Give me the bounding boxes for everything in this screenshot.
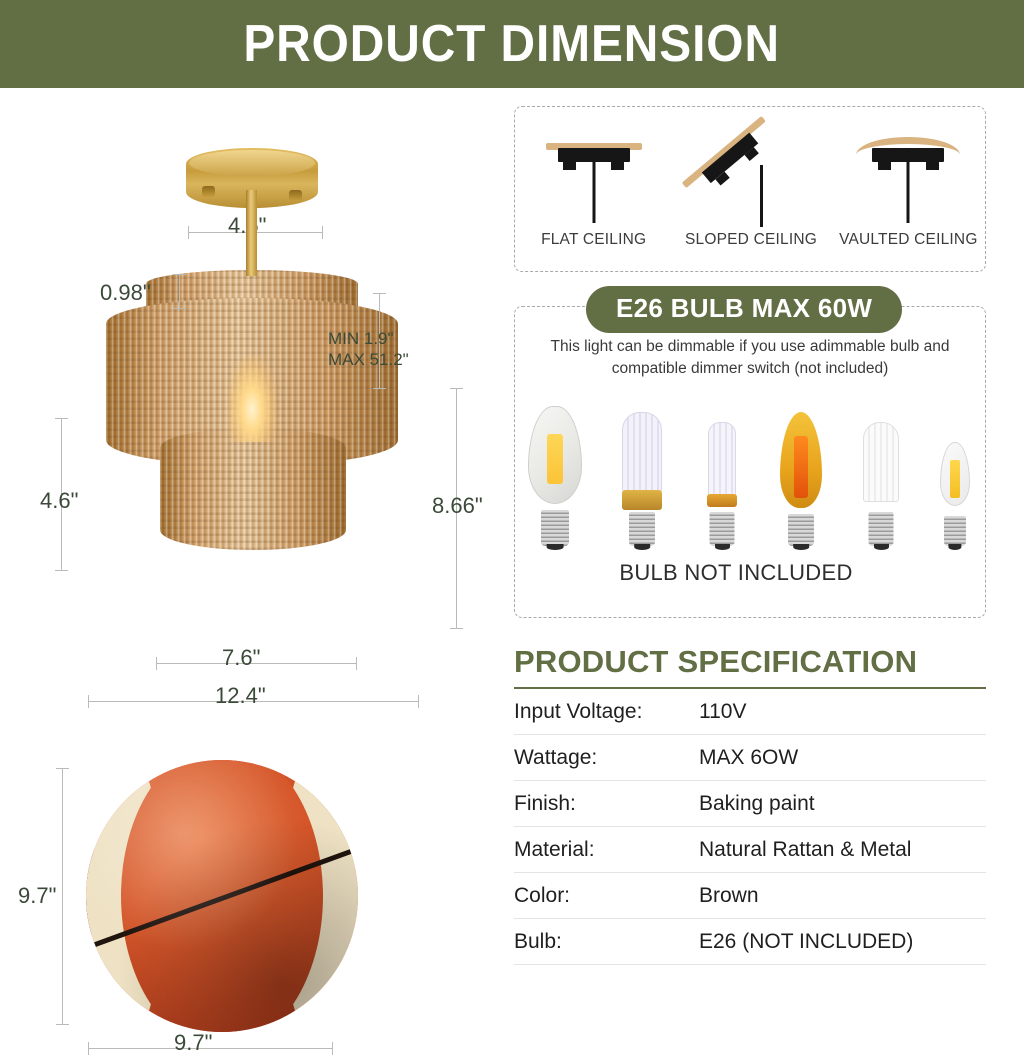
corn-led-e26-base (629, 512, 655, 546)
spec-key-input-voltage: Input Voltage: (514, 700, 699, 724)
bulb-types-row (524, 396, 976, 546)
page-title: PRODUCT DIMENSION (244, 14, 781, 74)
flat-ceiling-foot-right (611, 162, 624, 170)
dimcap-ball-height-top (56, 768, 69, 769)
vaulted-ceiling-rod (907, 161, 910, 223)
dimcap-overall-top (450, 388, 463, 389)
dimcap-lower-right (356, 657, 357, 670)
dimline-ball-height (62, 768, 63, 1024)
table-row: Material: Natural Rattan & Metal (514, 827, 986, 873)
white-cylinder-led-bulb (856, 422, 906, 546)
ceiling-types-panel: FLAT CEILING SLOPED CEILING (514, 106, 986, 272)
bulb-dimmable-note: This light can be dimmable if you use ad… (528, 336, 972, 381)
vaulted-ceiling-canopy (872, 148, 944, 162)
product-specification-section: PRODUCT SPECIFICATION Input Voltage: 110… (514, 644, 986, 965)
sloped-ceiling-plate-group (673, 105, 817, 248)
dimcap-rod-bottom (373, 388, 386, 389)
canopy-screw-right (289, 190, 302, 201)
flat-ceiling-canopy (558, 148, 630, 162)
dimcap-canopy-height-bottom (173, 308, 186, 309)
slim-corn-gold-ring (707, 494, 737, 507)
dimcap-ball-width-right (332, 1042, 333, 1055)
right-info-column: FLAT CEILING SLOPED CEILING (500, 88, 1024, 979)
ceiling-type-sloped: SLOPED CEILING (672, 129, 829, 249)
dimcap-shade-height-bottom (55, 570, 68, 571)
ceiling-type-flat: FLAT CEILING (515, 129, 672, 249)
corn-led-gold-collar (622, 490, 662, 510)
product-dimension-illustration: 4.6" 0.98" MIN 1.9" MAX 51.2" 4.6" 8.66"… (0, 88, 500, 979)
st64-e26-base (541, 510, 569, 546)
corn-led-body (622, 412, 662, 492)
bulb-not-included-label: BULB NOT INCLUDED (500, 560, 972, 586)
dimcap-overall-bottom (450, 628, 463, 629)
ceiling-type-vaulted: VAULTED CEILING (830, 129, 987, 249)
ceiling-type-vaulted-label: VAULTED CEILING (830, 231, 987, 249)
dimcap-canopy-width-left (188, 226, 189, 239)
table-row: Input Voltage: 110V (514, 689, 986, 735)
content-stage: 4.6" 0.98" MIN 1.9" MAX 51.2" 4.6" 8.66"… (0, 88, 1024, 979)
table-row: Color: Brown (514, 873, 986, 919)
candelabra-e26-base (944, 516, 966, 546)
spec-value-material: Natural Rattan & Metal (699, 838, 986, 862)
page-header: PRODUCT DIMENSION (0, 0, 1024, 88)
amber-flame-bulb (774, 412, 828, 546)
corn-led-bulb (614, 412, 670, 546)
ceiling-types-row: FLAT CEILING SLOPED CEILING (515, 129, 987, 249)
dimcap-rod-top (373, 293, 386, 294)
basketball-shape (86, 760, 358, 1032)
spec-value-input-voltage: 110V (699, 700, 986, 724)
st64-filament (547, 434, 563, 484)
dimcap-lower-left (156, 657, 157, 670)
st64-filament-bulb (524, 406, 586, 546)
dimcap-ball-width-left (88, 1042, 89, 1055)
ceiling-type-flat-label: FLAT CEILING (515, 231, 672, 249)
cylinder-led-body (863, 422, 899, 502)
rattan-tier-bottom (160, 428, 346, 550)
basketball-shading (86, 760, 358, 1032)
dim-max-width: 12.4" (215, 683, 266, 709)
dim-rod-max: MAX 51.2" (328, 349, 409, 370)
vaulted-ceiling-foot-left (878, 162, 891, 170)
slim-corn-led-bulb (698, 422, 746, 546)
bulb-badge: E26 BULB MAX 60W (586, 286, 902, 333)
dimcap-shade-height-top (55, 418, 68, 419)
down-rod-shape (246, 190, 257, 276)
spec-key-material: Material: (514, 838, 699, 862)
spec-value-bulb: E26 (NOT INCLUDED) (699, 930, 986, 954)
dim-canopy-height: 0.98" (100, 280, 151, 306)
table-row: Wattage: MAX 6OW (514, 735, 986, 781)
slim-corn-body (708, 422, 736, 496)
dim-lower-width: 7.6" (222, 645, 260, 671)
ceiling-light-illustration (88, 148, 418, 628)
cylinder-e26-base (869, 512, 894, 546)
specification-title: PRODUCT SPECIFICATION (514, 644, 986, 687)
candelabra-filament-bulb (934, 442, 976, 546)
dim-rod-min: MIN 1.9" (328, 328, 394, 349)
dim-ball-height: 9.7" (18, 883, 56, 909)
ceiling-type-sloped-label: SLOPED CEILING (672, 231, 829, 249)
spec-value-finish: Baking paint (699, 792, 986, 816)
table-row: Bulb: E26 (NOT INCLUDED) (514, 919, 986, 965)
spec-value-wattage: MAX 6OW (699, 746, 986, 770)
sloped-ceiling-rod (760, 165, 763, 227)
spec-key-finish: Finish: (514, 792, 699, 816)
dimcap-max-left (88, 695, 89, 708)
dim-ball-width: 9.7" (174, 1030, 212, 1056)
dim-shade-height: 4.6" (40, 488, 78, 514)
flat-ceiling-rod (592, 161, 595, 223)
vaulted-ceiling-foot-right (926, 162, 939, 170)
dimcap-max-right (418, 695, 419, 708)
spec-key-bulb: Bulb: (514, 930, 699, 954)
dimline-canopy-height (179, 274, 180, 308)
spec-value-color: Brown (699, 884, 986, 908)
flame-filament (794, 436, 808, 498)
candelabra-filament (950, 460, 960, 498)
dim-overall-height: 8.66" (432, 493, 483, 519)
spec-key-color: Color: (514, 884, 699, 908)
dimcap-canopy-height-top (173, 274, 186, 275)
canopy-screw-left (202, 186, 215, 197)
table-row: Finish: Baking paint (514, 781, 986, 827)
flat-ceiling-foot-left (563, 162, 576, 170)
spec-key-wattage: Wattage: (514, 746, 699, 770)
slim-corn-e26-base (710, 512, 735, 546)
flame-e26-base (788, 514, 814, 546)
dimcap-canopy-width-right (322, 226, 323, 239)
basketball-illustration (86, 760, 358, 1032)
dimcap-ball-height-bottom (56, 1024, 69, 1025)
